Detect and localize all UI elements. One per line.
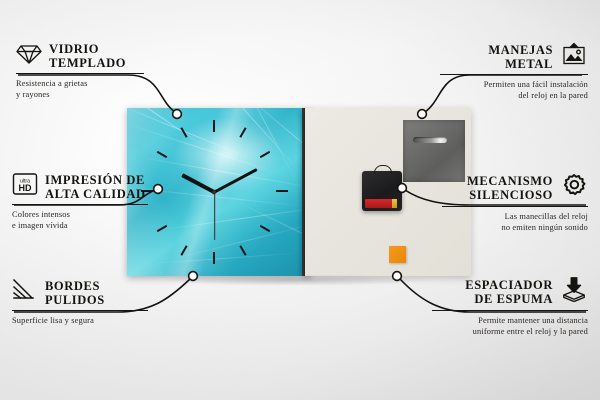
feature-manejas-metal[interactable]: MANEJAS METAL Permiten una fácil instala… — [440, 42, 588, 101]
feature-description: Colores intensos e imagen vívida — [12, 209, 148, 231]
hanger-keyhole-slot — [413, 137, 447, 143]
feature-vidrio-templado[interactable]: VIDRIO TEMPLADO Resistencia a grietas y … — [16, 42, 144, 100]
beveled-edge-icon — [12, 278, 38, 307]
feature-bordes-pulidos[interactable]: BORDES PULIDOS Superficie lisa y segura — [12, 278, 148, 326]
clock-face-front — [127, 108, 302, 276]
feature-description: Resistencia a grietas y rayones — [16, 78, 144, 100]
diamond-icon — [16, 43, 42, 70]
feature-title: MANEJAS METAL — [440, 43, 553, 71]
feature-mecanismo-silencioso[interactable]: MECANISMO SILENCIOSO Las manecillas del … — [442, 172, 588, 233]
foam-spacer — [389, 246, 406, 263]
ultra-hd-badge-icon: ultra HD — [12, 172, 38, 201]
mechanism-hanger-loop — [374, 165, 392, 174]
feature-description: Permiten una fácil instalación del reloj… — [440, 79, 588, 101]
feature-title: VIDRIO TEMPLADO — [49, 42, 126, 70]
feature-impresion-alta-calidad[interactable]: ultra HD IMPRESIÓN DE ALTA CALIDAD Color… — [12, 172, 148, 231]
feature-title: MECANISMO SILENCIOSO — [442, 174, 553, 202]
feature-divider — [440, 74, 588, 75]
battery-terminal — [392, 199, 397, 208]
feature-title: BORDES PULIDOS — [45, 279, 105, 307]
feature-heading-row: ultra HD IMPRESIÓN DE ALTA CALIDAD — [12, 172, 148, 201]
feature-heading-row: ESPACIADOR DE ESPUMA — [432, 276, 588, 307]
feature-description: Superficie lisa y segura — [12, 315, 148, 326]
feature-title: ESPACIADOR DE ESPUMA — [432, 278, 553, 306]
feature-heading-row: VIDRIO TEMPLADO — [16, 42, 144, 70]
battery — [365, 199, 397, 208]
feature-divider — [442, 206, 588, 207]
feature-divider — [12, 310, 148, 311]
clock-center-hub — [212, 190, 216, 194]
svg-text:HD: HD — [19, 183, 32, 193]
clock-hand-second — [214, 192, 215, 240]
feature-description: Permite mantener una distancia uniforme … — [432, 315, 588, 337]
feature-description: Las manecillas del reloj no emiten ningú… — [442, 211, 588, 233]
picture-frame-hanger-icon — [560, 42, 588, 71]
feature-heading-row: MECANISMO SILENCIOSO — [442, 172, 588, 203]
infographic-canvas: VIDRIO TEMPLADO Resistencia a grietas y … — [0, 0, 600, 400]
feature-divider — [432, 310, 588, 311]
feature-heading-row: BORDES PULIDOS — [12, 278, 148, 307]
feature-divider — [12, 204, 148, 205]
feature-title: IMPRESIÓN DE ALTA CALIDAD — [45, 173, 146, 201]
arrow-down-onto-pad-icon — [560, 276, 588, 307]
quartz-mechanism-box — [362, 171, 402, 211]
feature-heading-row: MANEJAS METAL — [440, 42, 588, 71]
feature-divider — [16, 73, 144, 74]
feature-espaciador-espuma[interactable]: ESPACIADOR DE ESPUMA Permite mantener un… — [432, 276, 588, 337]
gear-icon — [560, 172, 588, 203]
